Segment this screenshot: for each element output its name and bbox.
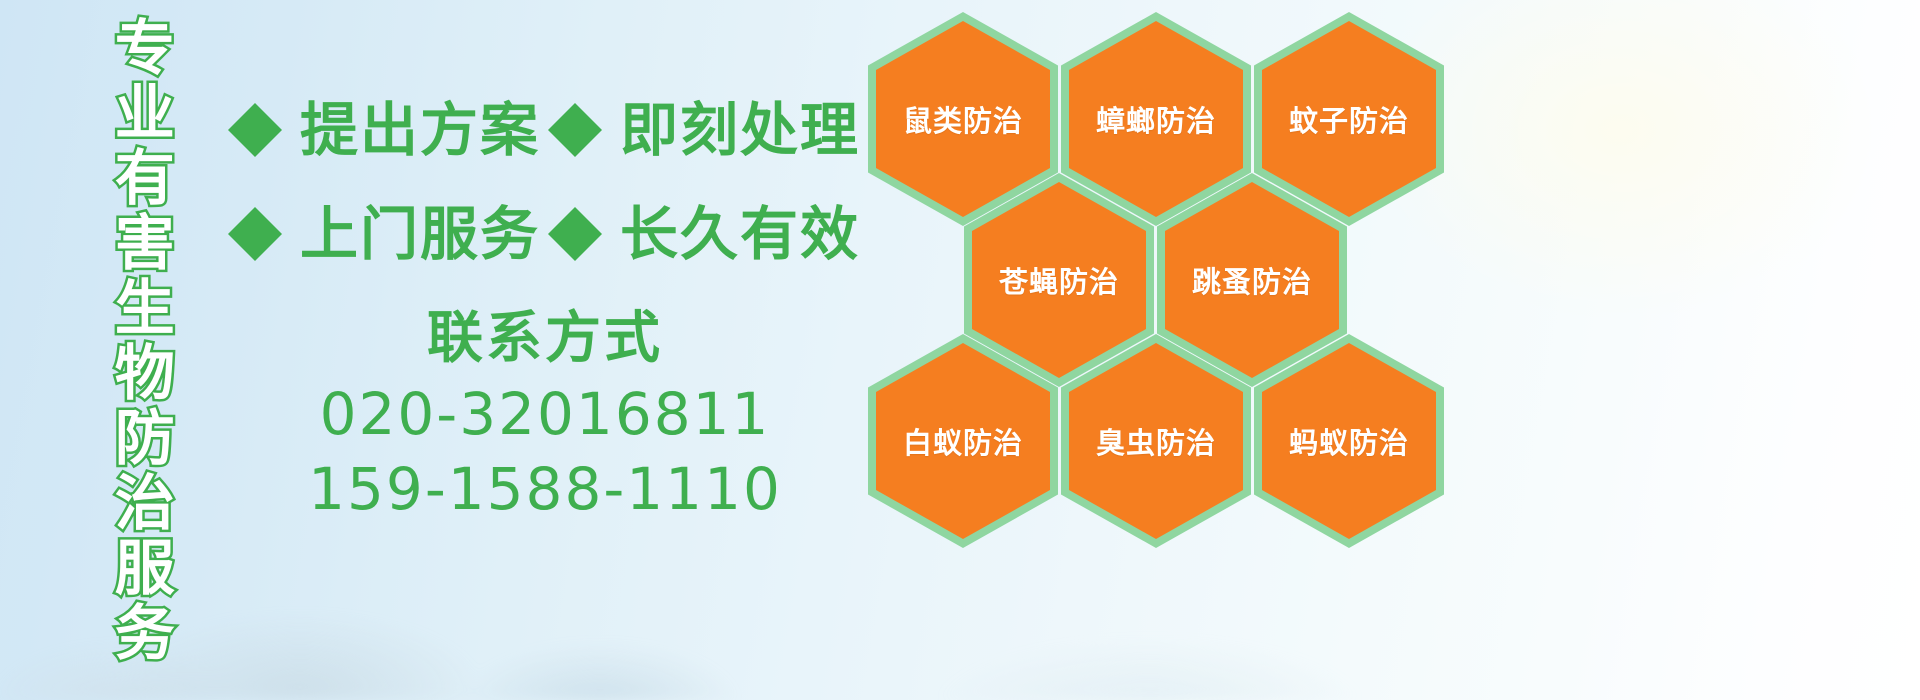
feature-list: 提出方案 即刻处理 上门服务 长久有效 bbox=[228, 78, 868, 286]
hex-label: 蚂蚁防治 bbox=[1289, 420, 1409, 462]
contact-heading: 联系方式 bbox=[250, 308, 840, 371]
contact-phone-landline[interactable]: 020-32016811 bbox=[250, 377, 840, 452]
hex-label: 白蚁防治 bbox=[903, 420, 1023, 462]
vertical-headline: 专业有害生物防治服务 bbox=[108, 16, 169, 676]
feature-row: 上门服务 长久有效 bbox=[228, 182, 868, 286]
hex-label: 苍蝇防治 bbox=[999, 259, 1119, 301]
feature-label: 提出方案 bbox=[300, 101, 540, 159]
feature-item-long-lasting: 长久有效 bbox=[548, 205, 860, 263]
diamond-icon bbox=[548, 76, 602, 130]
hex-label: 跳蚤防治 bbox=[1192, 259, 1312, 301]
hex-label: 鼠类防治 bbox=[903, 98, 1023, 140]
contact-block: 联系方式 020-32016811 159-1588-1110 bbox=[250, 308, 840, 528]
pest-control-banner: 专业有害生物防治服务 提出方案 即刻处理 上门服务 长久有效 联 bbox=[0, 0, 1920, 700]
hex-label: 臭虫防治 bbox=[1096, 420, 1216, 462]
contact-phone-mobile[interactable]: 159-1588-1110 bbox=[250, 452, 840, 527]
hex-label: 蟑螂防治 bbox=[1096, 98, 1216, 140]
feature-item-propose-plan: 提出方案 bbox=[228, 101, 548, 159]
feature-label: 即刻处理 bbox=[620, 101, 860, 159]
service-honeycomb: 鼠类防治 蟑螂防治 蚊子防治 苍蝇防治 跳蚤防治 白蚁防治 臭虫防治 bbox=[862, 0, 1462, 700]
diamond-icon bbox=[548, 180, 602, 234]
feature-row: 提出方案 即刻处理 bbox=[228, 78, 868, 182]
feature-label: 上门服务 bbox=[300, 205, 540, 263]
diamond-icon bbox=[228, 76, 282, 130]
feature-label: 长久有效 bbox=[620, 205, 860, 263]
hex-label: 蚊子防治 bbox=[1289, 98, 1409, 140]
diamond-icon bbox=[228, 180, 282, 234]
feature-item-onsite-service: 上门服务 bbox=[228, 205, 548, 263]
feature-item-immediate-handling: 即刻处理 bbox=[548, 101, 860, 159]
